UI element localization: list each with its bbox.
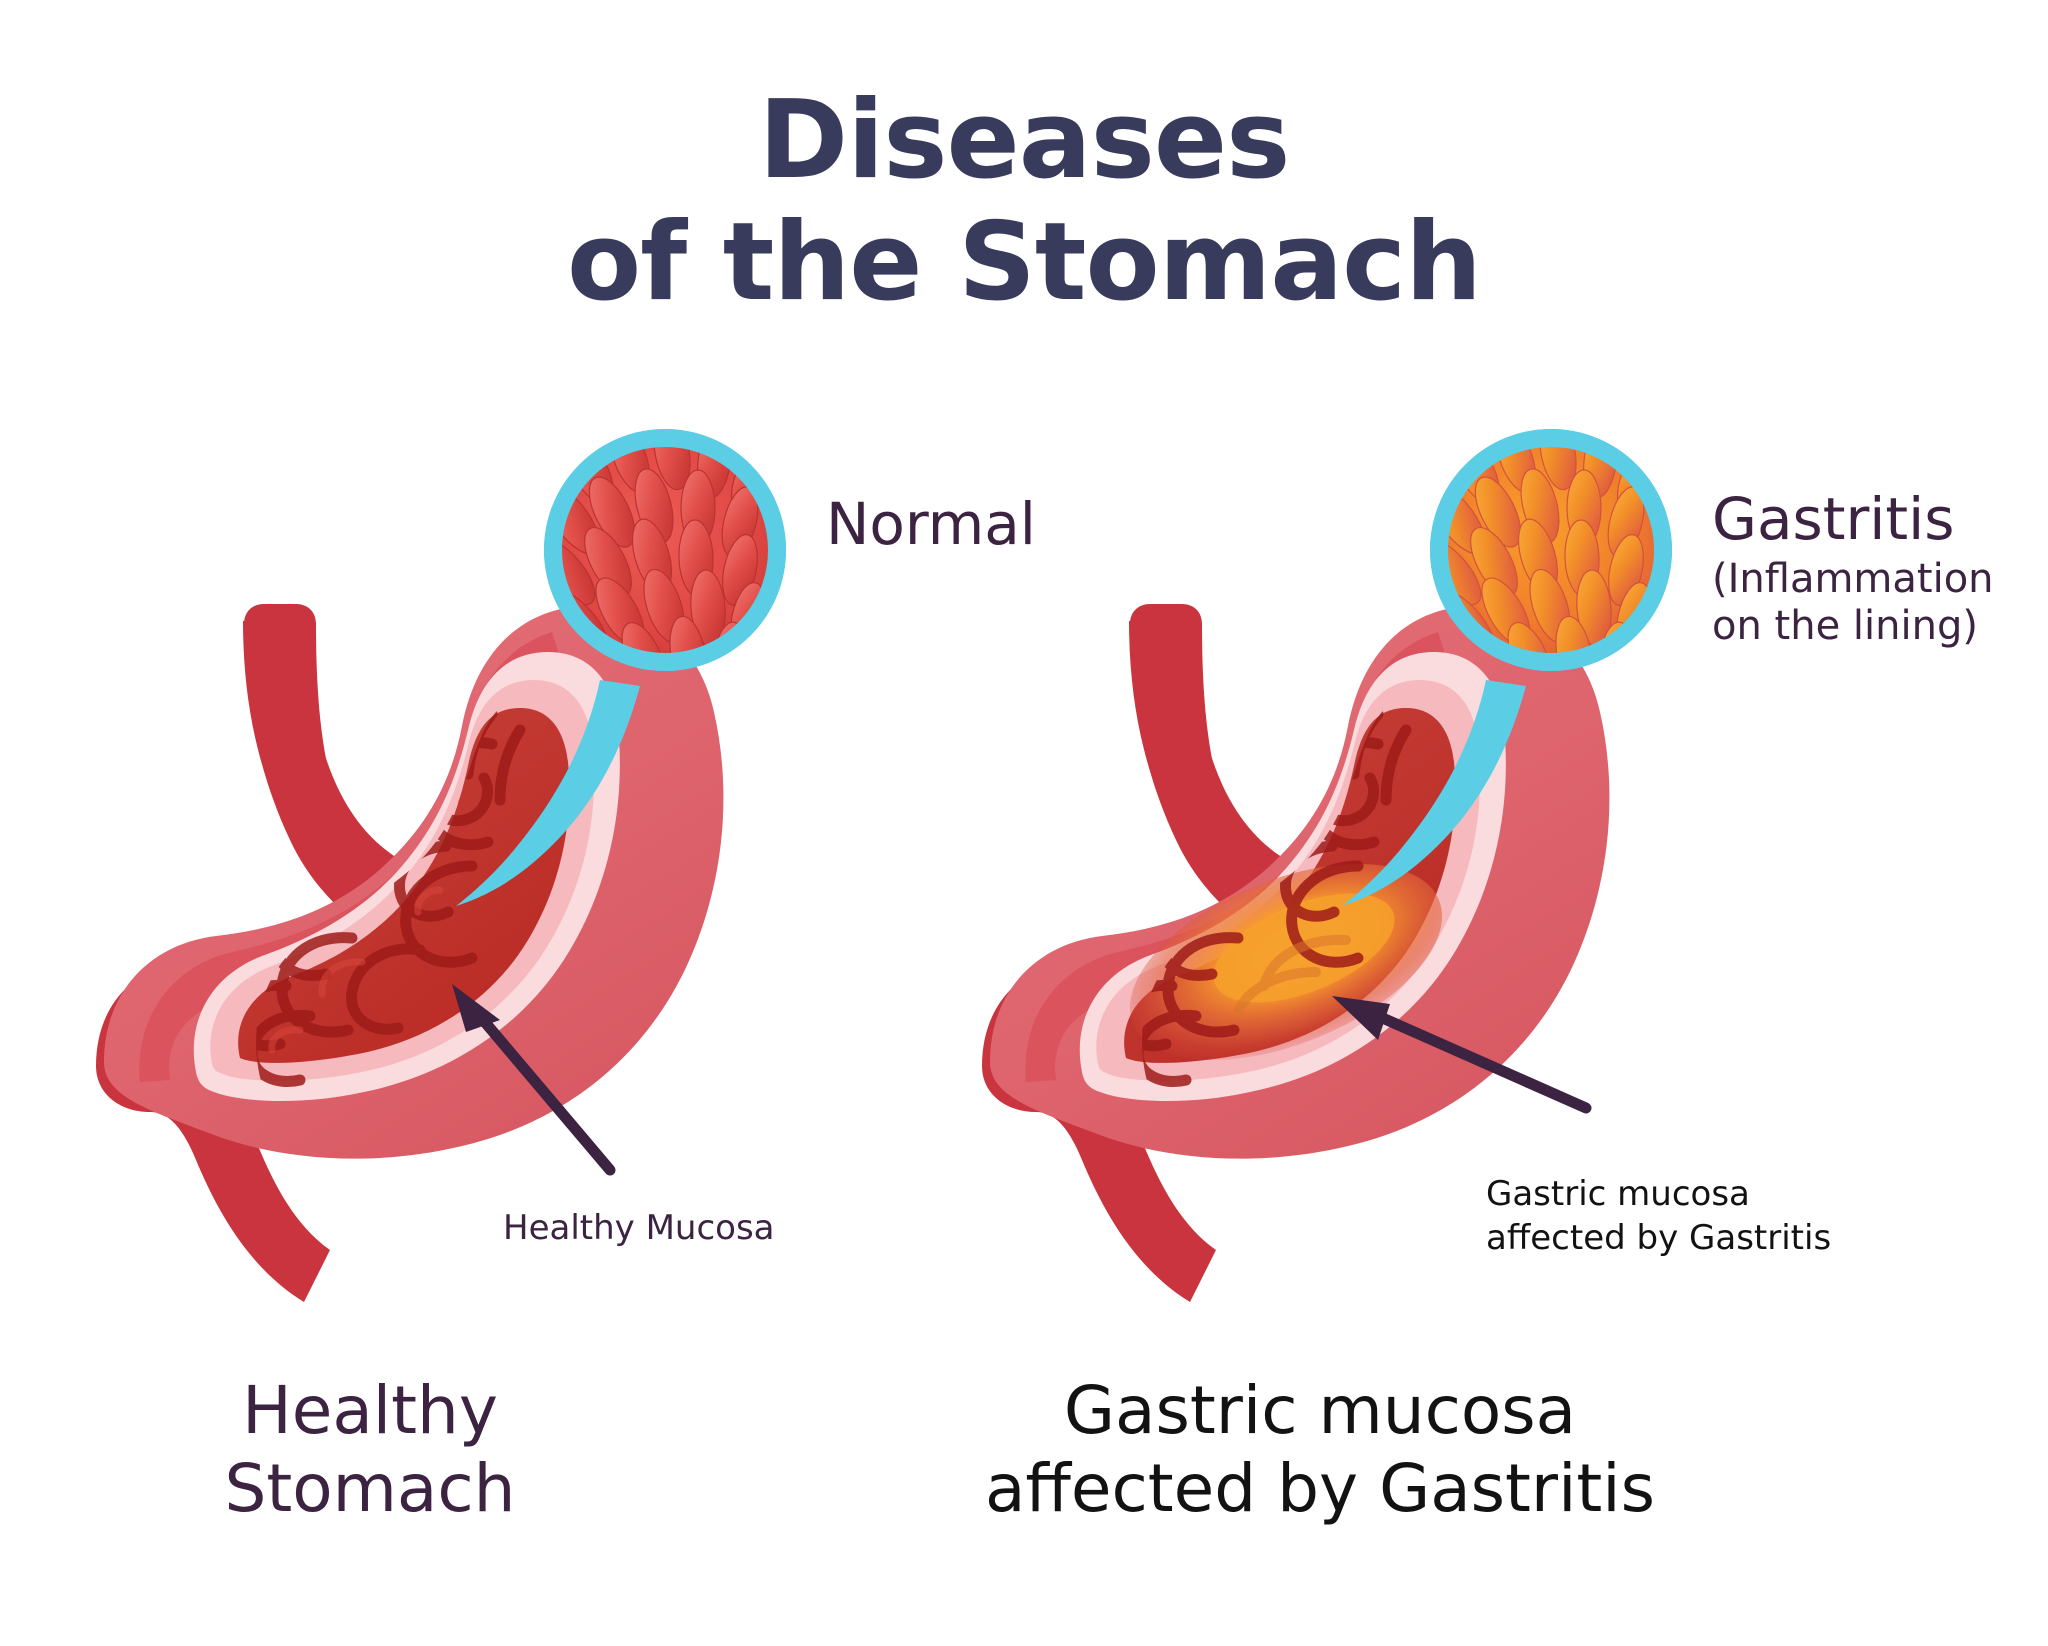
healthy-mucosa-arrow [452, 984, 610, 1170]
magnifier-ring-right-base [1439, 438, 1663, 662]
annotation-healthy-mucosa: Healthy Mucosa [503, 1206, 775, 1250]
stomach-lining-pink-left [210, 680, 594, 1081]
page-title: Diseases of the Stomach [0, 80, 2048, 324]
magnifier-connector-right [1342, 680, 1526, 906]
esophagus-tube-right [1129, 621, 1290, 916]
magnifier-label-normal: Normal [826, 495, 1036, 553]
stomach-body-left [104, 606, 723, 1159]
stomach-body-right [990, 606, 1609, 1159]
caption-gastric-mucosa-affected: Gastric mucosa affected by Gastritis [880, 1372, 1760, 1528]
gastritis-stomach-illustration [982, 412, 1663, 1302]
gastric-mucosa-right [1124, 708, 1455, 1063]
healthy-stomach-illustration [96, 412, 777, 1302]
duodenum-left [96, 962, 330, 1302]
magnifier-connector-left [456, 680, 640, 906]
caption-healthy-stomach: Healthy Stomach [60, 1372, 680, 1528]
magnifier-ring-left-top [553, 438, 777, 662]
stomach-body-left-shade [104, 606, 723, 1159]
magnifier-ring-left [553, 438, 777, 662]
rugae-folds-right [1122, 714, 1406, 1082]
stomach-rim-left [139, 632, 566, 1082]
gastric-mucosa-right-shade [1124, 708, 1455, 1063]
annotation-gastric-mucosa-affected: Gastric mucosa affected by Gastritis [1486, 1172, 1831, 1260]
esophagus-duodenum-right [1130, 604, 1306, 960]
gastric-mucosa-left-shade [238, 708, 569, 1063]
magnifier-tissue-normal [527, 412, 777, 709]
magnifier-label-gastritis: Gastritis [1712, 490, 1954, 548]
rugae-folds-right-inflamed [1238, 940, 1346, 1012]
magnifier-ring-right-top [1439, 438, 1663, 662]
magnifier-sublabel-gastritis: (Inflammation on the lining) [1712, 556, 1994, 650]
gastritis-arrow [1332, 996, 1586, 1108]
rugae-folds-left [236, 714, 520, 1082]
stomach-lining-pale-left [194, 652, 620, 1101]
duodenum-right [982, 962, 1216, 1302]
inflammation-patch-core [1199, 871, 1410, 1025]
magnifier-tissue-inflamed [1413, 412, 1663, 709]
gastric-mucosa-left [238, 708, 569, 1063]
rugae-highlights-left [272, 799, 456, 1050]
stomach-lining-pale-right [1080, 652, 1506, 1101]
inflammation-patch [1102, 824, 1469, 1100]
illustration-canvas: Diseases of the Stomach Normal Gastritis… [0, 0, 2048, 1646]
stomach-lining-pink-right [1096, 680, 1480, 1081]
esophagus-duodenum-left [244, 604, 420, 960]
stomach-body-right-shade [990, 606, 1609, 1159]
stomach-rim-right [1025, 632, 1452, 1082]
esophagus-tube-left [243, 621, 404, 916]
